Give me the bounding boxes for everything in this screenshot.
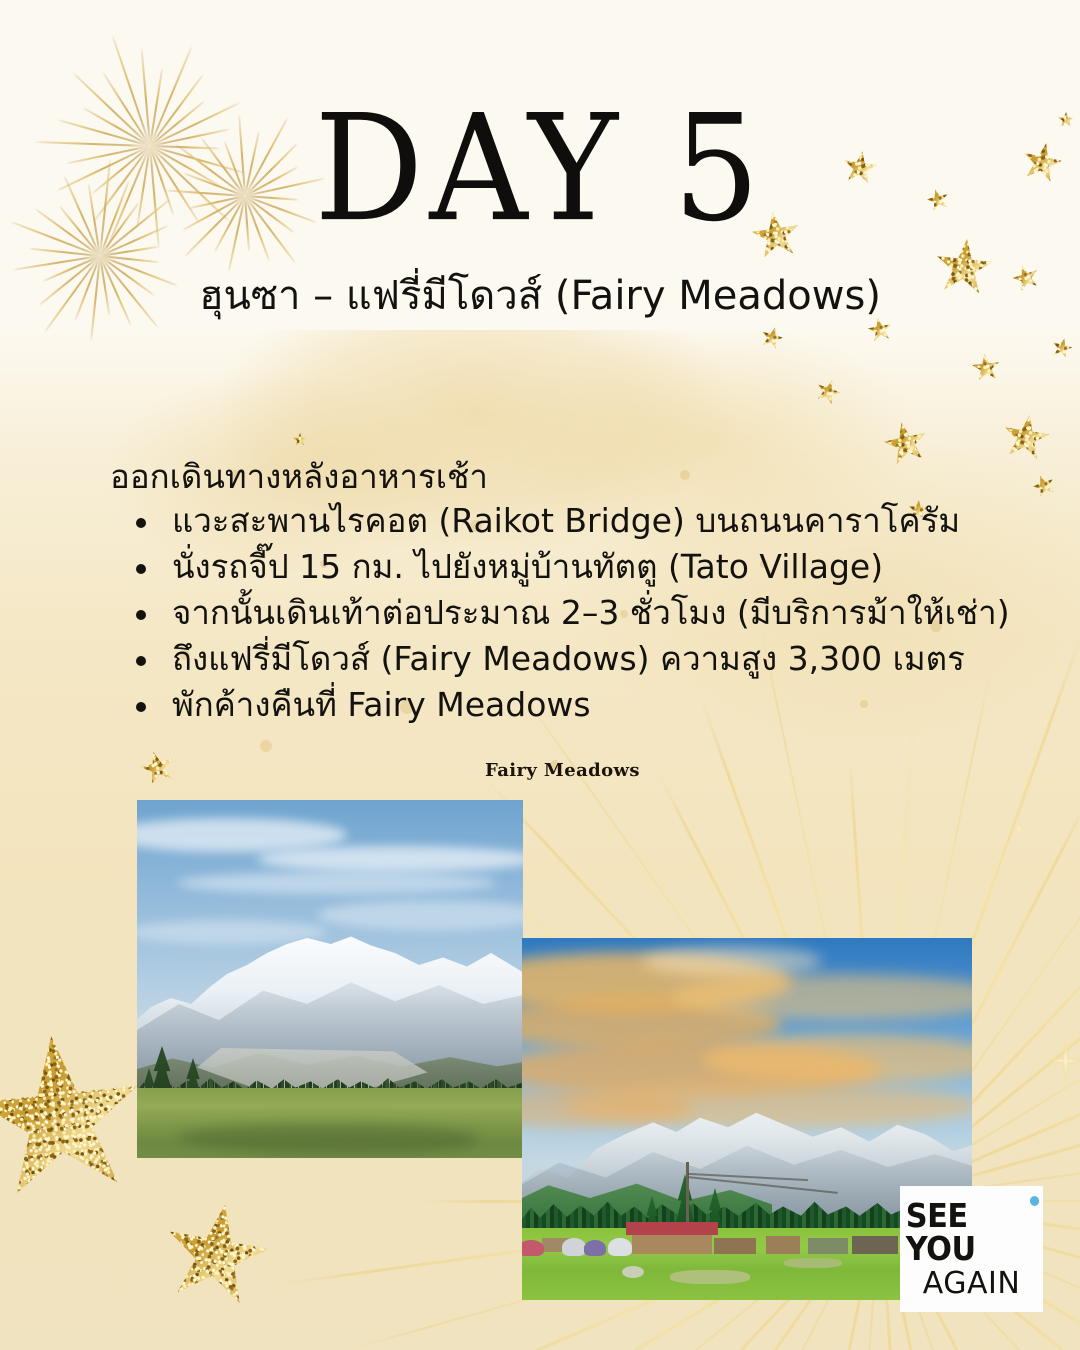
camping-tent (522, 1240, 544, 1256)
cloud (177, 872, 497, 894)
village-hut (852, 1236, 898, 1254)
gold-glitter-star-icon (0, 1028, 152, 1213)
itinerary-bullet-label: ถึงแฟรี่มีโดวส์ (Fairy Meadows) ความสูง … (172, 639, 965, 678)
camping-tent (584, 1240, 606, 1256)
itinerary-bullet-list: แวะสะพานไรคอต (Raikot Bridge) บนถนนคาราโ… (128, 498, 988, 728)
itinerary-bullet-item: ถึงแฟรี่มีโดวส์ (Fairy Meadows) ความสูง … (128, 636, 988, 682)
village-hut (714, 1238, 756, 1254)
bullet-dot-icon (136, 564, 146, 574)
itinerary-bullet-label: พักค้างคืนที่ Fairy Meadows (172, 685, 591, 724)
photo-nanga-parbat-day (137, 800, 523, 1158)
bullet-dot-icon (136, 610, 146, 620)
village-hut (766, 1236, 800, 1254)
camping-tent (562, 1238, 586, 1256)
itinerary-bullet-item: พักค้างคืนที่ Fairy Meadows (128, 682, 988, 728)
logo-text-see-you: SEE YOU (906, 1196, 976, 1268)
gold-glitter-star-icon (880, 418, 932, 470)
bullet-dot-icon (136, 656, 146, 666)
gold-glitter-star-icon (1050, 336, 1074, 360)
camping-tent (608, 1238, 632, 1256)
bullet-dot-icon (136, 518, 146, 528)
gold-glitter-star-icon (293, 433, 307, 447)
poster-canvas: DAY 5 ฮุนซา – แฟรี่มีโดวส์ (Fairy Meadow… (0, 0, 1080, 1350)
sunset-cloud (642, 946, 822, 976)
itinerary-bullet-label: นั่งรถจี๊ป 15 กม. ไปยังหมู่บ้านทัตตู (Ta… (172, 547, 883, 586)
sparkle-icon (1010, 820, 1028, 838)
itinerary-bullet-item: แวะสะพานไรคอต (Raikot Bridge) บนถนนคาราโ… (128, 498, 988, 544)
logo-see-you-again[interactable]: SEE YOU AGAIN (900, 1186, 1043, 1312)
gold-glitter-star-icon (758, 324, 785, 351)
village-hut (808, 1238, 848, 1254)
logo-text-again: AGAIN (923, 1269, 1021, 1299)
page-subtitle: ฮุนซา – แฟรี่มีโดวส์ (Fairy Meadows) (0, 272, 1080, 320)
sparkle-icon (1045, 1040, 1080, 1082)
logo-line-1: SEE YOU (906, 1199, 1038, 1265)
page-title: DAY 5 (0, 96, 1080, 243)
gold-glitter-star-icon (156, 1196, 276, 1316)
itinerary-bullet-label: แวะสะพานไรคอต (Raikot Bridge) บนถนนคาราโ… (172, 501, 960, 540)
logo-blue-dot-icon (1030, 1196, 1039, 1206)
meadow-patch (670, 1270, 750, 1284)
firework-ray (13, 255, 100, 271)
gold-glitter-star-icon (1000, 412, 1053, 465)
firework-ray (29, 248, 101, 257)
wash-speck (680, 470, 690, 480)
village-hut (632, 1232, 712, 1254)
red-roof (626, 1222, 718, 1235)
itinerary-bullet-item: จากนั้นเดินเท้าต่อประมาณ 2–3 ชั่วโมง (มี… (128, 590, 988, 636)
photo-caption: Fairy Meadows (485, 760, 640, 781)
gold-glitter-star-icon (866, 316, 894, 344)
intro-text: ออกเดินทางหลังอาหารเช้า (110, 450, 488, 503)
itinerary-bullet-label: จากนั้นเดินเท้าต่อประมาณ 2–3 ชั่วโมง (มี… (172, 593, 1010, 632)
wash-speck (260, 740, 272, 752)
cloud (257, 846, 523, 872)
meadow-rock (622, 1266, 644, 1278)
gold-glitter-star-icon (971, 353, 1002, 384)
itinerary-bullet-item: นั่งรถจี๊ป 15 กม. ไปยังหมู่บ้านทัตตู (Ta… (128, 544, 988, 590)
firework-ray (100, 246, 159, 257)
bullet-dot-icon (136, 702, 146, 712)
gold-glitter-star-icon (813, 377, 844, 408)
gold-glitter-star-icon (1030, 472, 1058, 500)
meadow-patch (784, 1258, 842, 1268)
firework-ray (100, 255, 159, 263)
gold-glitter-star-icon (137, 747, 179, 789)
